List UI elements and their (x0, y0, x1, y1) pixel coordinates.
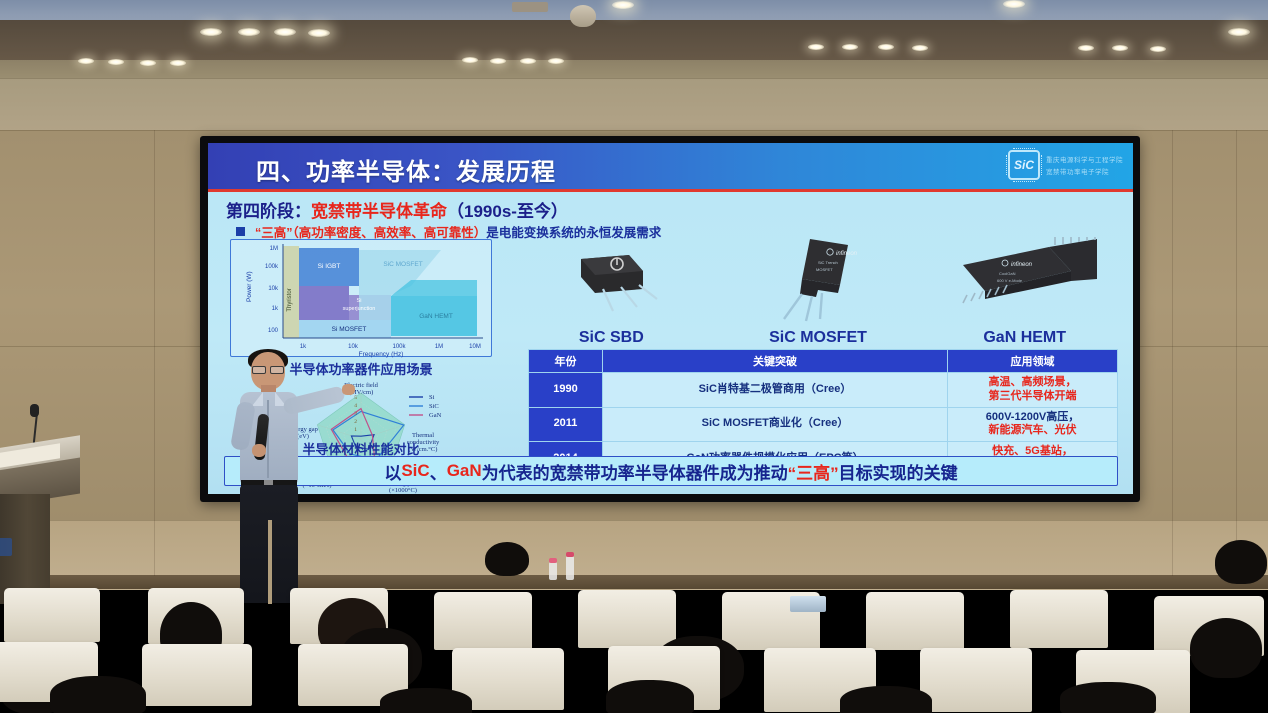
audience-head (1215, 540, 1267, 584)
svg-text:Si MOSFET: Si MOSFET (332, 326, 367, 333)
ceiling-downlight (520, 58, 536, 64)
svg-text:600 V e-Mode: 600 V e-Mode (997, 278, 1023, 283)
chair (434, 592, 532, 650)
table-row: 2011 SiC MOSFET商业化（Cree） 600V-1200V高压， 新… (529, 407, 1118, 442)
sic-sbd-photo (551, 237, 671, 317)
bottle-cap (549, 558, 557, 563)
device-item: SiC SBD (508, 235, 715, 343)
chair (1010, 590, 1108, 648)
ceiling-downlight (912, 45, 928, 51)
table-cell-breakthrough: SiC MOSFET商业化（Cree） (603, 407, 948, 442)
logo-org-text: 重庆电源科学与工程学院 宽禁带功率电子学院 (1046, 154, 1123, 176)
audience-head (50, 676, 146, 713)
svg-text:GaN HEMT: GaN HEMT (419, 313, 453, 320)
app-line-1: 高温、高频场景， (950, 376, 1115, 390)
power-frequency-svg: 1M 100k 10k 1k 100 Power (W) 1k 10k 100k… (231, 240, 493, 358)
ceiling-downlight (274, 28, 296, 36)
svg-text:(×1000°C): (×1000°C) (389, 487, 417, 494)
audience-head (380, 688, 472, 713)
banner-part4: 目标实现的关键 (839, 459, 958, 484)
wall-seam (0, 130, 1268, 131)
slide-subtitle: 第四阶段：宽禁带半导体革命（1990s-至今） (226, 197, 568, 222)
svg-text:SiC Trench: SiC Trench (818, 260, 838, 265)
institution-logo: SiC 重庆电源科学与工程学院 宽禁带功率电子学院 (1008, 150, 1123, 180)
wall-seam (1236, 130, 1237, 576)
wall-seam (1172, 130, 1173, 576)
audience-head (840, 686, 932, 713)
chair (4, 588, 100, 642)
shirt-collar-left (252, 392, 263, 406)
app-line-2: 第三代半导体开端 (950, 390, 1115, 404)
ceiling-downlight (878, 44, 894, 50)
presenter-right-arm (282, 385, 346, 416)
bottle-cap (566, 552, 574, 557)
banner-part3: “三高” (788, 459, 839, 484)
ceiling-downlight (842, 44, 858, 50)
svg-text:Thermal: Thermal (412, 432, 434, 439)
svg-text:10M: 10M (469, 344, 481, 350)
title-divider (208, 189, 1133, 192)
svg-text:Si: Si (357, 298, 362, 304)
ceiling-downlight (612, 1, 634, 9)
subtitle-highlight: 宽禁带半导体革命 (311, 202, 447, 221)
svg-text:SiC MOSFET: SiC MOSFET (383, 261, 422, 268)
ceiling-downlight (1003, 0, 1025, 8)
wall-upper (0, 78, 1268, 138)
table-cell-year: 1990 (529, 373, 603, 408)
device-label: SiC MOSFET (715, 329, 922, 347)
svg-text:5: 5 (354, 395, 357, 401)
presenter-left-hand (252, 444, 266, 457)
banner-gan: GaN (447, 461, 482, 481)
svg-text:SiC: SiC (429, 403, 439, 410)
audience-head (1060, 682, 1156, 713)
svg-text:100k: 100k (392, 344, 406, 350)
table-header-cell: 年份 (529, 350, 603, 373)
wall-seam (0, 520, 1268, 521)
banner-part1: 以 (384, 459, 401, 484)
svg-text:Thyristor: Thyristor (287, 288, 293, 311)
svg-text:infineon: infineon (1011, 262, 1033, 268)
device-gallery: SiC SBD infineon SiC Trench MOSFET SiC M… (508, 235, 1128, 343)
shirt-placket (267, 400, 269, 478)
audience-area (0, 540, 1268, 713)
table-cell-breakthrough: SiC肖特基二极管商用（Cree） (603, 373, 948, 408)
chair (142, 644, 252, 706)
table-cell-application: 600V-1200V高压， 新能源汽车、光伏 (948, 407, 1118, 442)
ceiling-downlight (548, 58, 564, 64)
slide-title: 四、功率半导体：发展历程 (256, 152, 556, 187)
water-bottle (566, 556, 574, 580)
ceiling-downlight (308, 29, 330, 37)
bullet-paren: （高功率密度、高效率、高可靠性） (293, 226, 487, 240)
subtitle-prefix: 第四阶段： (226, 202, 311, 221)
svg-text:MOSFET: MOSFET (816, 267, 833, 272)
gan-hemt-photo: infineon CoolGaN 600 V e-Mode (945, 237, 1105, 317)
table-row: 1990 SiC肖特基二极管商用（Cree） 高温、高频场景， 第三代半导体开端 (529, 373, 1118, 408)
wall-seam (154, 130, 155, 576)
glasses-icon (252, 366, 284, 372)
table-cell-year: 2011 (529, 407, 603, 442)
svg-text:CoolGaN: CoolGaN (999, 271, 1016, 276)
ceiling-downlight (1150, 46, 1166, 52)
audience-head (1190, 618, 1262, 678)
ceiling-downlight (490, 58, 506, 64)
chair (866, 592, 964, 650)
ceiling-equipment-mount (512, 2, 548, 12)
device-label: GaN HEMT (921, 329, 1128, 347)
svg-text:Si: Si (429, 394, 435, 401)
banner-sic: SiC (401, 461, 429, 481)
ceiling-downlight (462, 57, 478, 63)
svg-text:100k: 100k (265, 264, 279, 270)
table-header-cell: 应用领域 (948, 350, 1118, 373)
svg-text:1: 1 (354, 427, 357, 433)
svg-text:Frequency (Hz): Frequency (Hz) (359, 351, 404, 358)
device-label: SiC SBD (508, 329, 715, 347)
svg-text:Si IGBT: Si IGBT (318, 263, 341, 270)
svg-text:1k: 1k (272, 306, 279, 312)
microphone-icon (30, 404, 39, 417)
svg-text:10k: 10k (268, 286, 279, 292)
audience-head (485, 542, 529, 576)
power-frequency-chart: 1M 100k 10k 1k 100 Power (W) 1k 10k 100k… (230, 239, 492, 357)
chip-pins-right-icon (1041, 155, 1042, 175)
ceiling-downlight (1228, 28, 1250, 36)
app-line-2: 新能源汽车、光伏 (950, 424, 1115, 438)
logo-org-line1: 重庆电源科学与工程学院 (1046, 154, 1123, 164)
audience-head (606, 680, 694, 713)
svg-text:100: 100 (268, 328, 279, 334)
table-cell-application: 高温、高频场景， 第三代半导体开端 (948, 373, 1118, 408)
table-header-cell: 关键突破 (603, 350, 948, 373)
conclusion-banner: 以SiC、GaN为代表的宽禁带功率半导体器件成为推动“三高”目标实现的关键 (224, 456, 1118, 486)
nameplate-text (18, 449, 42, 463)
ceiling-downlight (78, 58, 94, 64)
chip-icon: SiC (1008, 150, 1040, 180)
logo-chip-text: SiC (1014, 158, 1034, 172)
svg-text:10k: 10k (348, 344, 359, 350)
bullet-square-icon (236, 227, 245, 236)
ceiling-downlight (1078, 45, 1094, 51)
laptop (790, 596, 826, 612)
svg-text:Power (W): Power (W) (246, 271, 253, 302)
ceiling-camera-icon (570, 5, 596, 27)
svg-text:4: 4 (354, 403, 357, 409)
bullet-quoted: “三高” (255, 226, 293, 240)
svg-text:3: 3 (354, 411, 357, 417)
banner-part2: 为代表的宽禁带功率半导体器件成为推动 (482, 459, 788, 484)
svg-text:1M: 1M (270, 246, 278, 252)
svg-text:GaN: GaN (429, 412, 442, 419)
chair (578, 590, 676, 648)
ceiling-downlight (1112, 45, 1128, 51)
ceiling-downlight (200, 28, 222, 36)
subtitle-suffix: （1990s-至今） (447, 202, 568, 221)
water-bottle (549, 562, 557, 580)
wall-seam (0, 78, 1268, 79)
ceiling-downlight (170, 60, 186, 66)
svg-text:1M: 1M (435, 344, 443, 350)
device-item: infineon CoolGaN 600 V e-Mode (921, 235, 1128, 343)
ceiling-downlight (238, 28, 260, 36)
app-line-1: 600V-1200V高压， (950, 411, 1115, 425)
chip-pins-left-icon (1006, 155, 1007, 175)
device-item: infineon SiC Trench MOSFET SiC MOSFET (715, 235, 922, 343)
svg-text:1k: 1k (300, 344, 307, 350)
svg-text:2: 2 (354, 419, 357, 425)
chair (920, 648, 1032, 712)
logo-org-line2: 宽禁带功率电子学院 (1046, 166, 1123, 176)
table-header-row: 年份 关键突破 应用领域 (529, 350, 1118, 373)
ceiling-downlight (808, 44, 824, 50)
ceiling-downlight (140, 60, 156, 66)
sic-mosfet-photo: infineon SiC Trench MOSFET (758, 237, 878, 323)
svg-text:superjunction: superjunction (343, 306, 376, 312)
banner-sep: 、 (430, 459, 447, 484)
svg-text:infineon: infineon (836, 251, 858, 257)
presenter-right-hand (342, 384, 355, 395)
ceiling-downlight (108, 59, 124, 65)
